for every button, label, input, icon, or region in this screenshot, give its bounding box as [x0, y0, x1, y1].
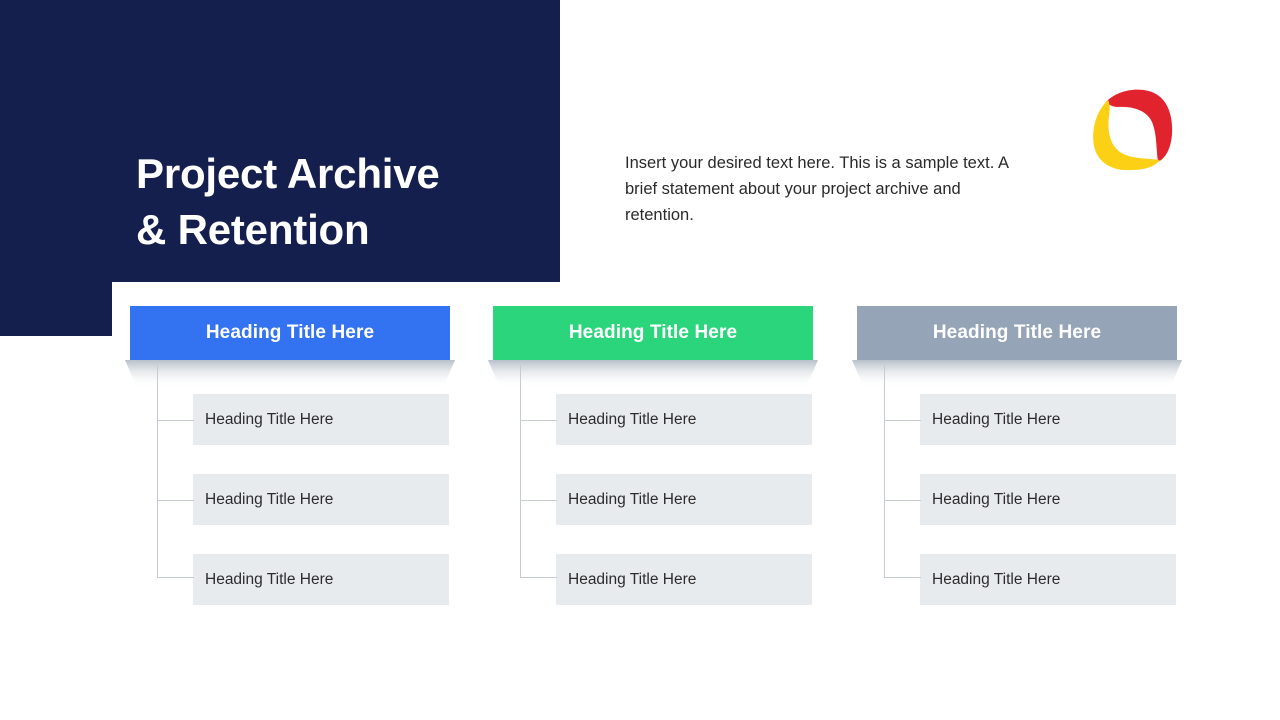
connector-vertical-line — [884, 365, 885, 577]
column-3-connector-tree — [884, 365, 954, 585]
connector-branch-1 — [884, 420, 921, 421]
page-title-line-1: Project Archive — [136, 146, 536, 202]
list-item[interactable]: Heading Title Here — [193, 554, 449, 605]
list-item[interactable]: Heading Title Here — [193, 474, 449, 525]
column-2-items: Heading Title Here Heading Title Here He… — [556, 394, 812, 605]
brand-logo-icon — [1084, 78, 1180, 178]
column-2-heading[interactable]: Heading Title Here — [493, 306, 813, 360]
connector-branch-2 — [520, 500, 557, 501]
connector-branch-2 — [884, 500, 921, 501]
column-3-items: Heading Title Here Heading Title Here He… — [920, 394, 1176, 605]
page-title: Project Archive & Retention — [136, 146, 536, 259]
page-title-line-2: & Retention — [136, 202, 536, 258]
connector-branch-2 — [157, 500, 194, 501]
navy-step-block — [0, 282, 112, 336]
connector-branch-1 — [520, 420, 557, 421]
column-1-items: Heading Title Here Heading Title Here He… — [193, 394, 449, 605]
column-3-heading[interactable]: Heading Title Here — [857, 306, 1177, 360]
list-item[interactable]: Heading Title Here — [920, 394, 1176, 445]
column-1-heading[interactable]: Heading Title Here — [130, 306, 450, 360]
list-item[interactable]: Heading Title Here — [556, 394, 812, 445]
connector-branch-3 — [884, 577, 921, 578]
connector-branch-3 — [157, 577, 194, 578]
connector-branch-1 — [157, 420, 194, 421]
list-item[interactable]: Heading Title Here — [920, 554, 1176, 605]
connector-vertical-line — [157, 365, 158, 577]
column-2: Heading Title Here Heading Title Here He… — [493, 306, 813, 360]
connector-vertical-line — [520, 365, 521, 577]
list-item[interactable]: Heading Title Here — [556, 474, 812, 525]
intro-paragraph: Insert your desired text here. This is a… — [625, 150, 1025, 228]
list-item[interactable]: Heading Title Here — [193, 394, 449, 445]
connector-branch-3 — [520, 577, 557, 578]
list-item[interactable]: Heading Title Here — [920, 474, 1176, 525]
column-1-connector-tree — [157, 365, 227, 585]
column-2-connector-tree — [520, 365, 590, 585]
column-1: Heading Title Here Heading Title Here He… — [130, 306, 450, 360]
column-3: Heading Title Here Heading Title Here He… — [857, 306, 1177, 360]
list-item[interactable]: Heading Title Here — [556, 554, 812, 605]
